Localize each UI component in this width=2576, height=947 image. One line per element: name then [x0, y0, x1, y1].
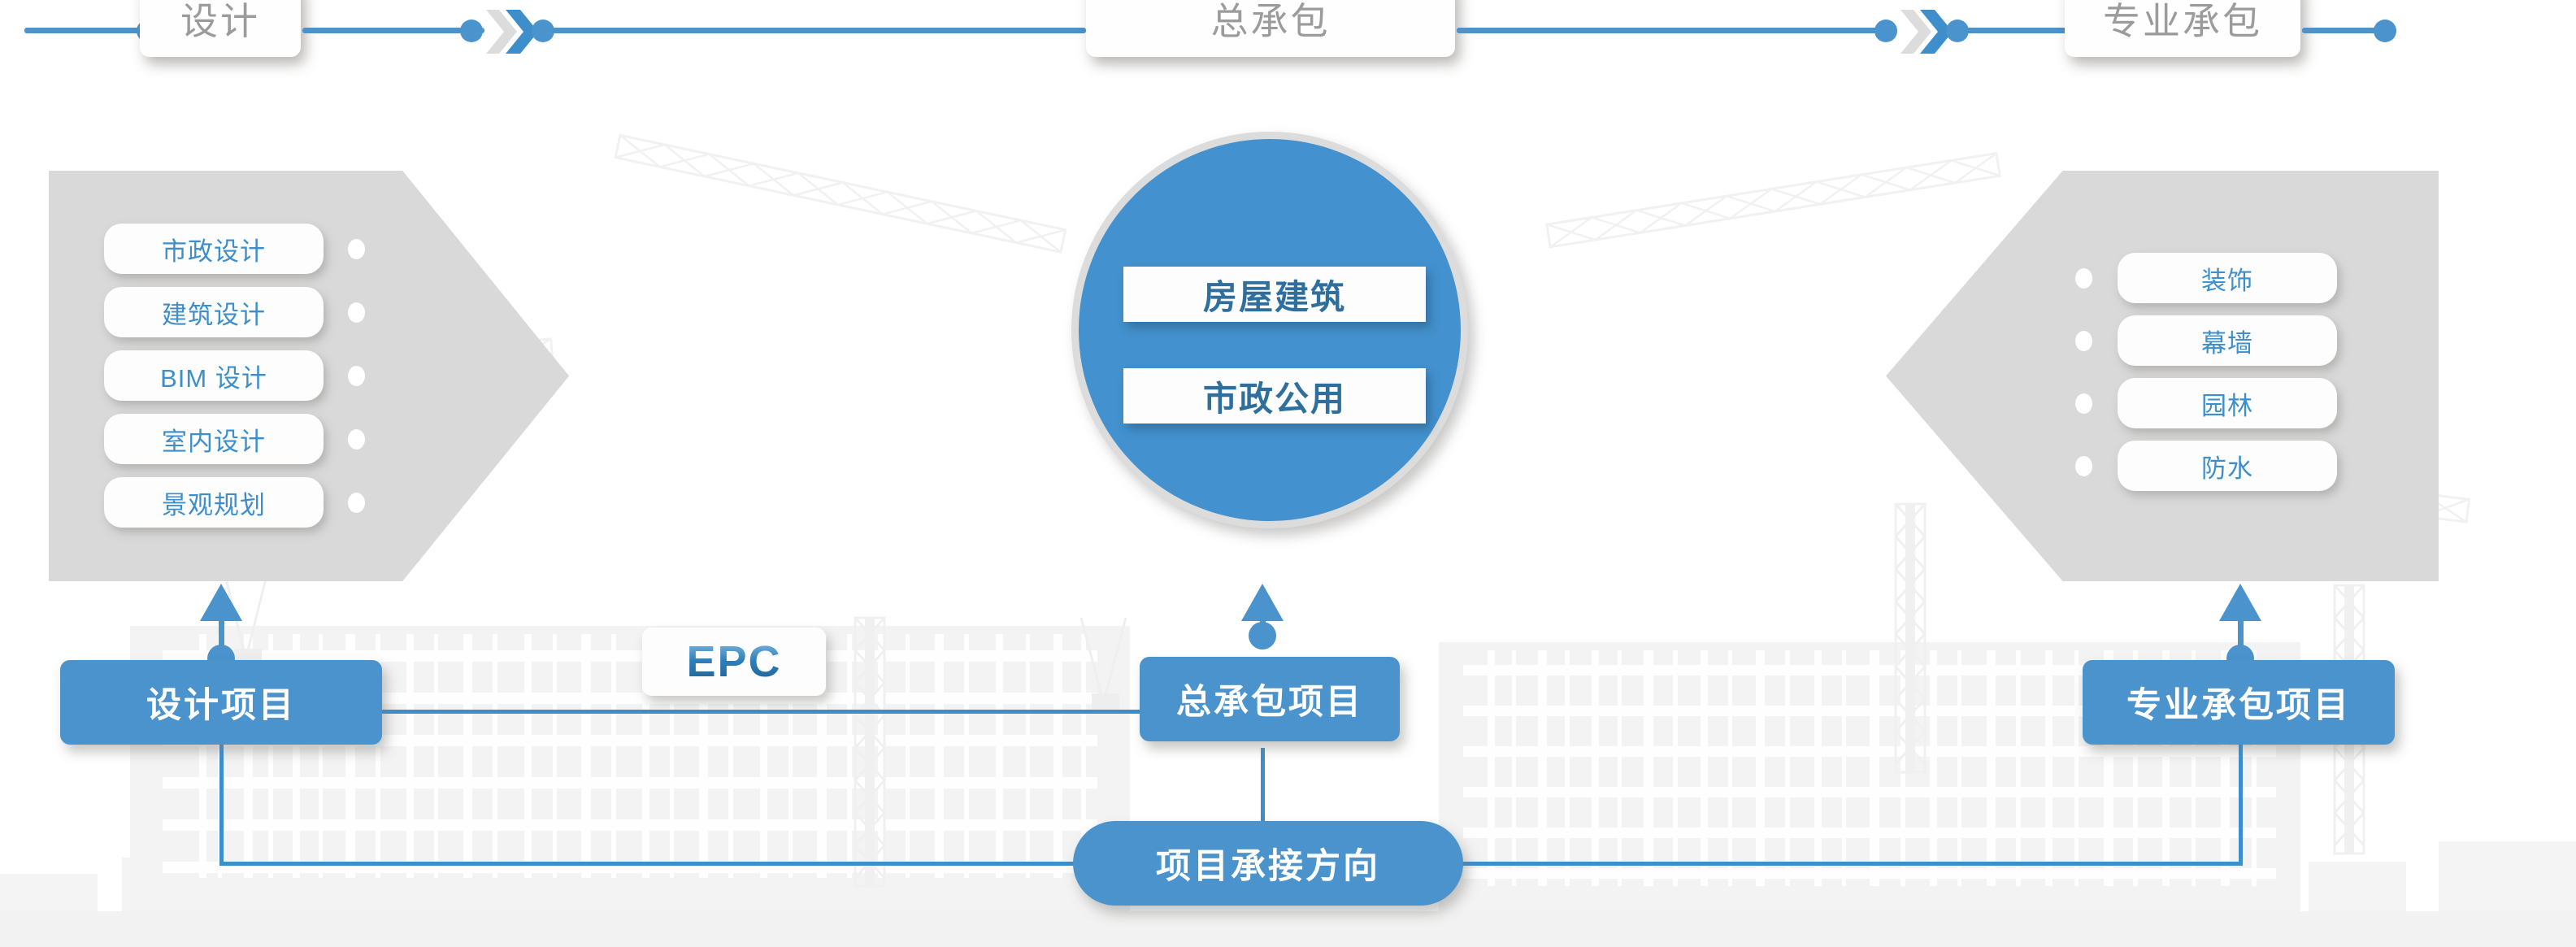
timeline-dot-4 — [1874, 20, 1897, 42]
timeline-segment-4 — [1457, 28, 1879, 33]
direction-pill-label: 项目承接方向 — [1156, 838, 1380, 888]
general-up-arrow-head — [1241, 584, 1284, 621]
ground-strip — [0, 911, 2576, 947]
timeline-segment-5 — [1964, 28, 2068, 33]
specialty-item-1[interactable]: 幕墙 — [2118, 315, 2337, 366]
specialty-up-arrow-head — [2219, 584, 2261, 621]
specialty-item-label-2: 园林 — [2201, 385, 2253, 422]
general-contract-project-label: 总承包项目 — [1176, 674, 1363, 724]
epc-badge[interactable]: EPC — [642, 628, 826, 696]
specialty-bullet-2 — [2075, 393, 2092, 414]
timeline-stage-label-design: 设计 — [180, 0, 260, 46]
timeline-stage-label-specialty: 专业承包 — [2103, 0, 2262, 46]
double-chevron-right-icon-1 — [484, 7, 536, 57]
timeline-segment-2 — [302, 28, 484, 33]
timeline-stage-card-design[interactable]: 设计 — [140, 0, 301, 57]
specialty-item-3[interactable]: 防水 — [2118, 441, 2337, 491]
general-up-arrow-dot — [1249, 622, 1276, 649]
specialty-item-label-1: 幕墙 — [2201, 323, 2253, 359]
timeline-stage-card-specialty[interactable]: 专业承包 — [2065, 0, 2300, 57]
epc-connector-line — [382, 710, 1140, 714]
timeline-stage-card-general[interactable]: 总承包 — [1086, 0, 1455, 57]
timeline-dot-2 — [460, 20, 483, 42]
design-item-label-1: 建筑设计 — [162, 294, 266, 331]
design-to-direction-hline — [219, 862, 1088, 866]
specialty-to-direction-vline — [2239, 742, 2243, 864]
direction-pill[interactable]: 项目承接方向 — [1073, 821, 1463, 906]
specialty-item-0[interactable]: 装饰 — [2118, 253, 2337, 303]
general-contract-project-box[interactable]: 总承包项目 — [1140, 657, 1400, 741]
core-business-circle — [1071, 132, 1468, 528]
design-item-2[interactable]: BIM 设计 — [104, 350, 324, 401]
design-project-label: 设计项目 — [146, 677, 296, 728]
timeline-dot-6 — [2374, 20, 2396, 42]
design-item-label-3: 室内设计 — [162, 421, 266, 458]
timeline-segment-3 — [550, 28, 1086, 33]
design-bullet-3 — [348, 429, 365, 450]
specialty-to-direction-hline — [1440, 862, 2243, 866]
diagram-canvas: 设计 总承包 专业承包 市政设计 建筑设计 BIM 设计 室内设计 景 — [0, 0, 2576, 947]
double-chevron-right-icon-2 — [1899, 7, 1951, 57]
core-business-box-0[interactable]: 房屋建筑 — [1123, 267, 1426, 322]
specialty-item-2[interactable]: 园林 — [2118, 378, 2337, 428]
design-bullet-2 — [348, 366, 365, 386]
design-project-box[interactable]: 设计项目 — [60, 660, 382, 745]
design-up-arrow-head — [200, 584, 242, 621]
core-business-box-1[interactable]: 市政公用 — [1123, 368, 1426, 424]
design-item-label-0: 市政设计 — [162, 231, 266, 267]
specialty-item-label-0: 装饰 — [2201, 260, 2253, 297]
specialty-bullet-0 — [2075, 268, 2092, 289]
epc-label: EPC — [686, 636, 781, 687]
timeline-stage-label-general: 总承包 — [1211, 0, 1331, 46]
design-item-3[interactable]: 室内设计 — [104, 414, 324, 464]
core-business-label-1: 市政公用 — [1203, 371, 1346, 421]
design-to-direction-vline — [219, 742, 224, 864]
design-bullet-1 — [348, 302, 365, 323]
design-item-0[interactable]: 市政设计 — [104, 224, 324, 274]
specialty-bullet-1 — [2075, 331, 2092, 351]
specialty-contract-project-box[interactable]: 专业承包项目 — [2083, 660, 2395, 745]
design-item-label-2: BIM 设计 — [160, 358, 267, 394]
design-item-1[interactable]: 建筑设计 — [104, 287, 324, 337]
design-bullet-0 — [348, 239, 365, 259]
design-bullet-4 — [348, 493, 365, 513]
design-item-4[interactable]: 景观规划 — [104, 477, 324, 528]
core-business-label-0: 房屋建筑 — [1203, 270, 1346, 319]
specialty-bullet-3 — [2075, 456, 2092, 476]
specialty-item-label-3: 防水 — [2201, 448, 2253, 484]
specialty-contract-project-label: 专业承包项目 — [2126, 677, 2351, 728]
design-item-label-4: 景观规划 — [162, 484, 266, 521]
